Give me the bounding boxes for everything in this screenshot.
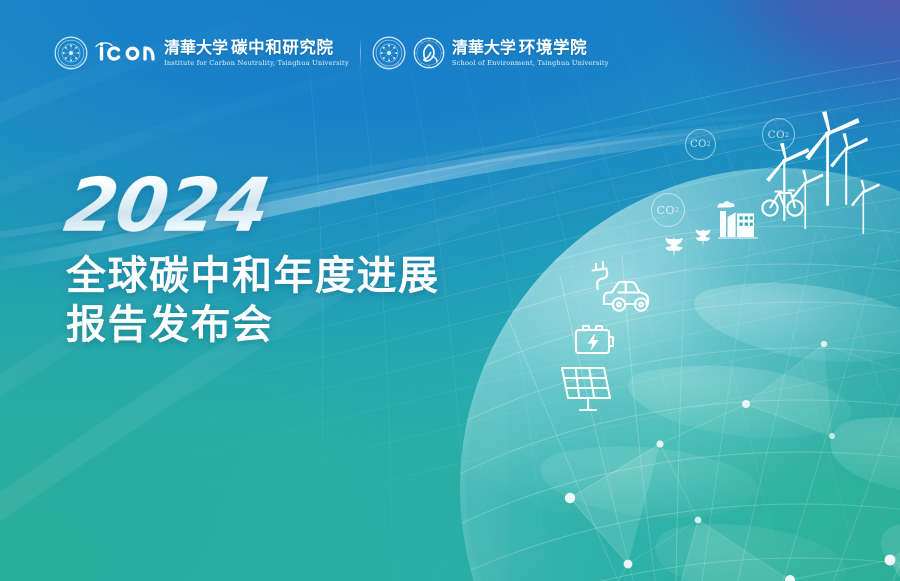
- co2-subscript: 2: [675, 206, 680, 214]
- logo-name-en: School of Environment, Tsinghua Universi…: [452, 60, 609, 67]
- solar-panel-icon: [558, 358, 618, 414]
- logo-divider: [360, 37, 361, 69]
- wind-turbine-icon: [847, 180, 881, 234]
- co2-bubble: CO2: [651, 193, 685, 227]
- leaf-icon: [692, 228, 714, 249]
- logo-name-cn-university: 清華大学: [164, 38, 228, 57]
- logo-name-cn: 清華大学碳中和研究院: [164, 39, 349, 57]
- logo-text-block: 清華大学环境学院 School of Environment, Tsinghua…: [452, 39, 609, 67]
- logo-text-block: 清華大学碳中和研究院 Institute for Carbon Neutrali…: [164, 39, 349, 67]
- bicycle-icon: [761, 184, 805, 218]
- logo-school-of-environment[interactable]: 清華大学环境学院 School of Environment, Tsinghua…: [372, 36, 609, 70]
- factory-icon: [714, 195, 760, 239]
- co2-subscript: 2: [707, 141, 711, 148]
- page-title-line-2: 报告发布会: [66, 301, 440, 350]
- logo-name-en: Institute for Carbon Neutrality, Tsinghu…: [164, 60, 349, 67]
- page-title-line-1: 全球碳中和年度进展: [66, 252, 440, 301]
- tsinghua-seal-icon: [54, 36, 88, 70]
- header-logos: 清華大学碳中和研究院 Institute for Carbon Neutrali…: [54, 36, 609, 70]
- page-title: 全球碳中和年度进展 报告发布会: [66, 252, 440, 350]
- tsinghua-seal-icon: [372, 36, 406, 70]
- battery-icon: [572, 322, 616, 358]
- logo-name-cn-unit: 环境学院: [519, 38, 587, 57]
- logo-name-cn-unit: 碳中和研究院: [231, 38, 334, 57]
- electric-car-icon: [588, 258, 652, 318]
- co2-label: CO: [690, 139, 706, 150]
- leaf-icon: [661, 236, 687, 260]
- co2-subscript: 2: [785, 131, 789, 139]
- co2-bubble: CO2: [685, 129, 716, 160]
- title-block: 2024 全球碳中和年度进展 报告发布会: [66, 172, 440, 350]
- icon-wordmark-icon: [95, 40, 157, 66]
- poster-canvas: CO2 CO2 CO2: [0, 0, 900, 581]
- logo-carbon-neutrality[interactable]: 清華大学碳中和研究院 Institute for Carbon Neutrali…: [54, 36, 349, 70]
- co2-label: CO: [657, 204, 675, 217]
- logo-name-cn: 清華大学环境学院: [452, 39, 609, 57]
- logo-name-cn-university: 清華大学: [452, 38, 516, 57]
- co2-label: CO: [768, 129, 785, 141]
- year-2024: 2024: [61, 172, 274, 240]
- leaf-emblem-icon: [413, 37, 445, 69]
